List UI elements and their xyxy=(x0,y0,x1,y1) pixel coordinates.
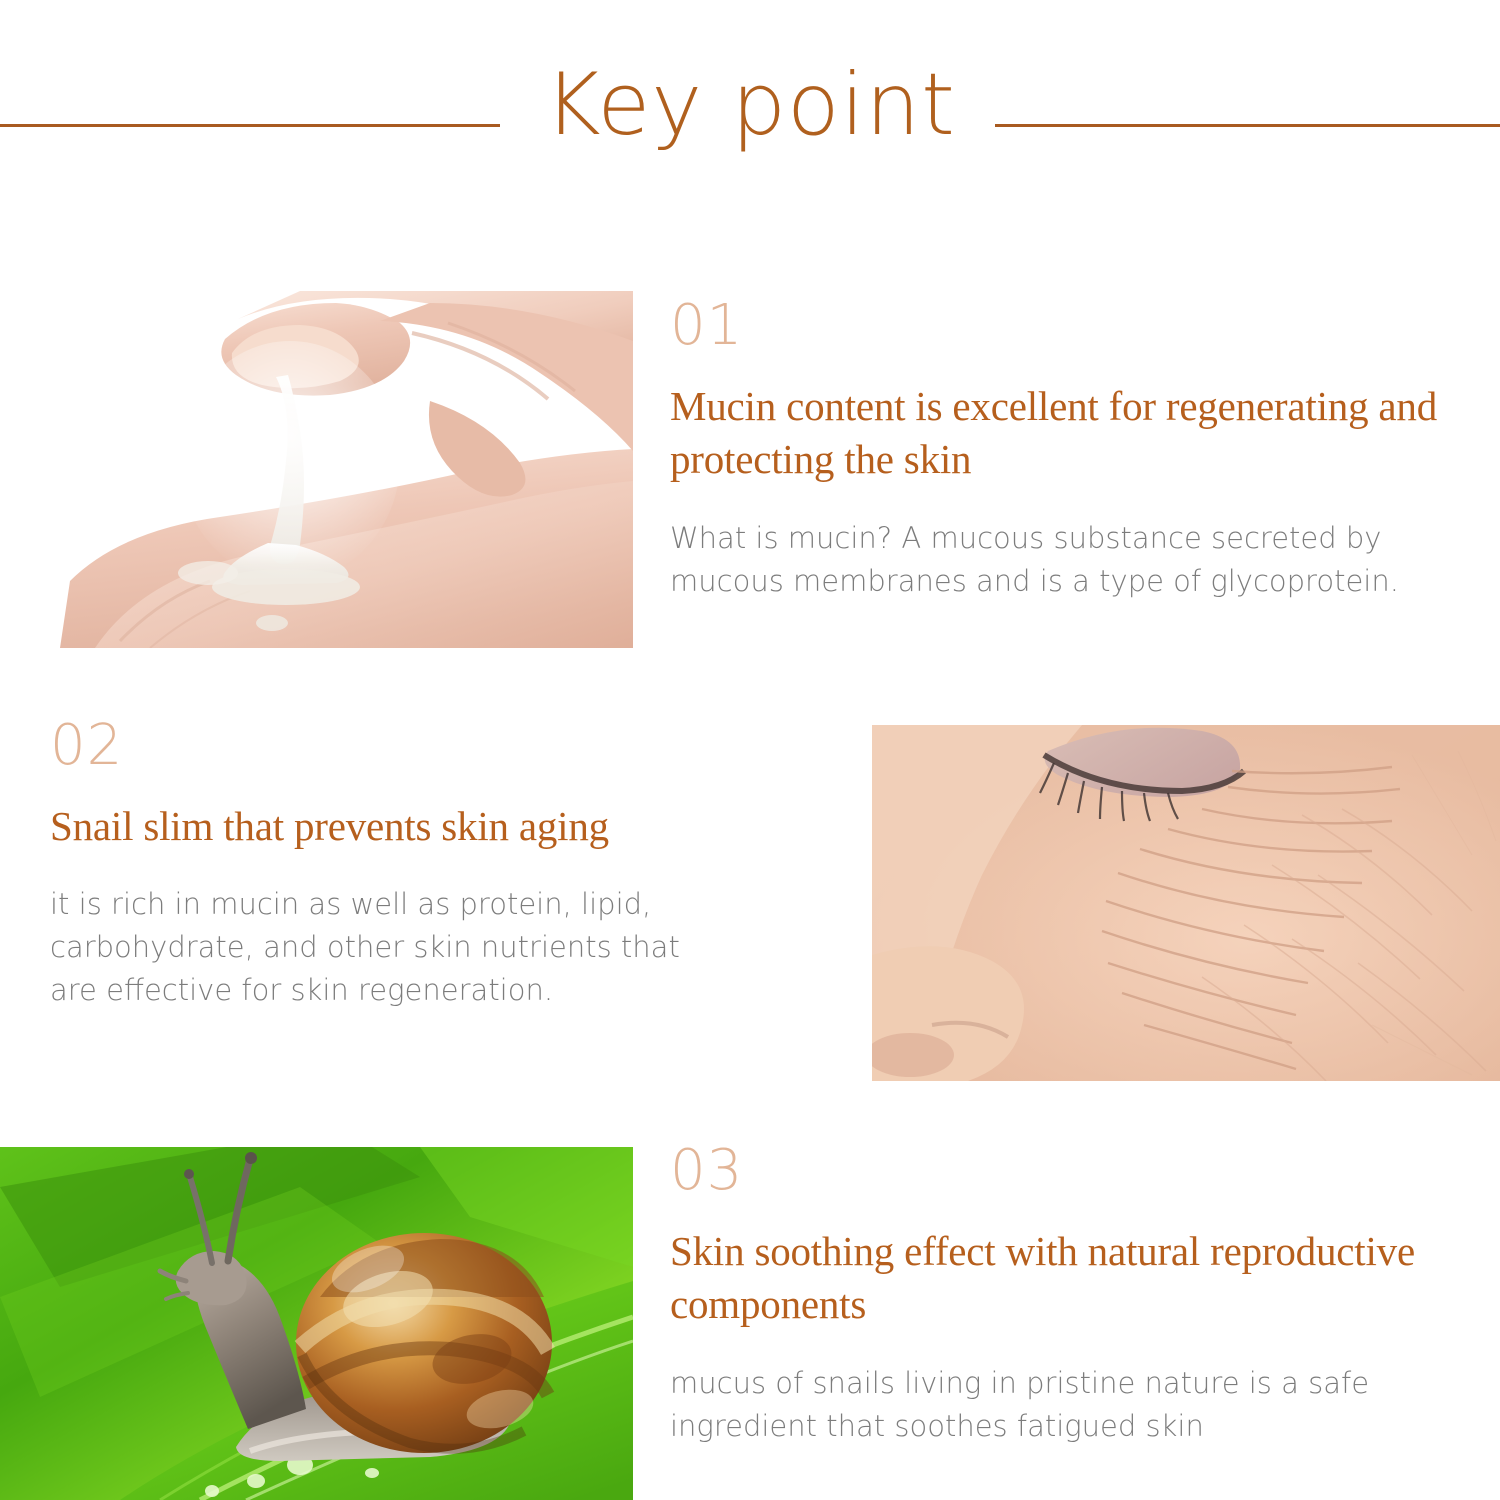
wrinkled-skin-illustration xyxy=(872,725,1500,1081)
section-02-number: 02 xyxy=(50,718,730,774)
section-01-body: What is mucin? A mucous substance secret… xyxy=(670,517,1470,603)
hand-gel-illustration xyxy=(0,281,633,648)
section-03-body: mucus of snails living in pristine natur… xyxy=(670,1362,1470,1448)
section-03-heading: Skin soothing effect with natural reprod… xyxy=(670,1225,1470,1332)
section-02-heading: Snail slim that prevents skin aging xyxy=(50,800,730,853)
section-03-text: 03 Skin soothing effect with natural rep… xyxy=(670,1143,1470,1447)
section-03-number: 03 xyxy=(670,1143,1470,1199)
wrinkled-skin-photo xyxy=(872,725,1500,1081)
section-01-heading: Mucin content is excellent for regenerat… xyxy=(670,380,1470,487)
hand-gel-photo xyxy=(0,281,633,648)
section-01-text: 01 Mucin content is excellent for regene… xyxy=(670,298,1470,602)
snail-leaf-photo xyxy=(0,1147,633,1500)
section-02-text: 02 Snail slim that prevents skin aging i… xyxy=(50,718,730,1012)
page-title: Key point xyxy=(0,62,1500,148)
section-01-number: 01 xyxy=(670,298,1470,354)
snail-leaf-illustration xyxy=(0,1147,633,1500)
page-header: Key point xyxy=(0,0,1500,215)
section-02-body: it is rich in mucin as well as protein, … xyxy=(50,883,730,1012)
